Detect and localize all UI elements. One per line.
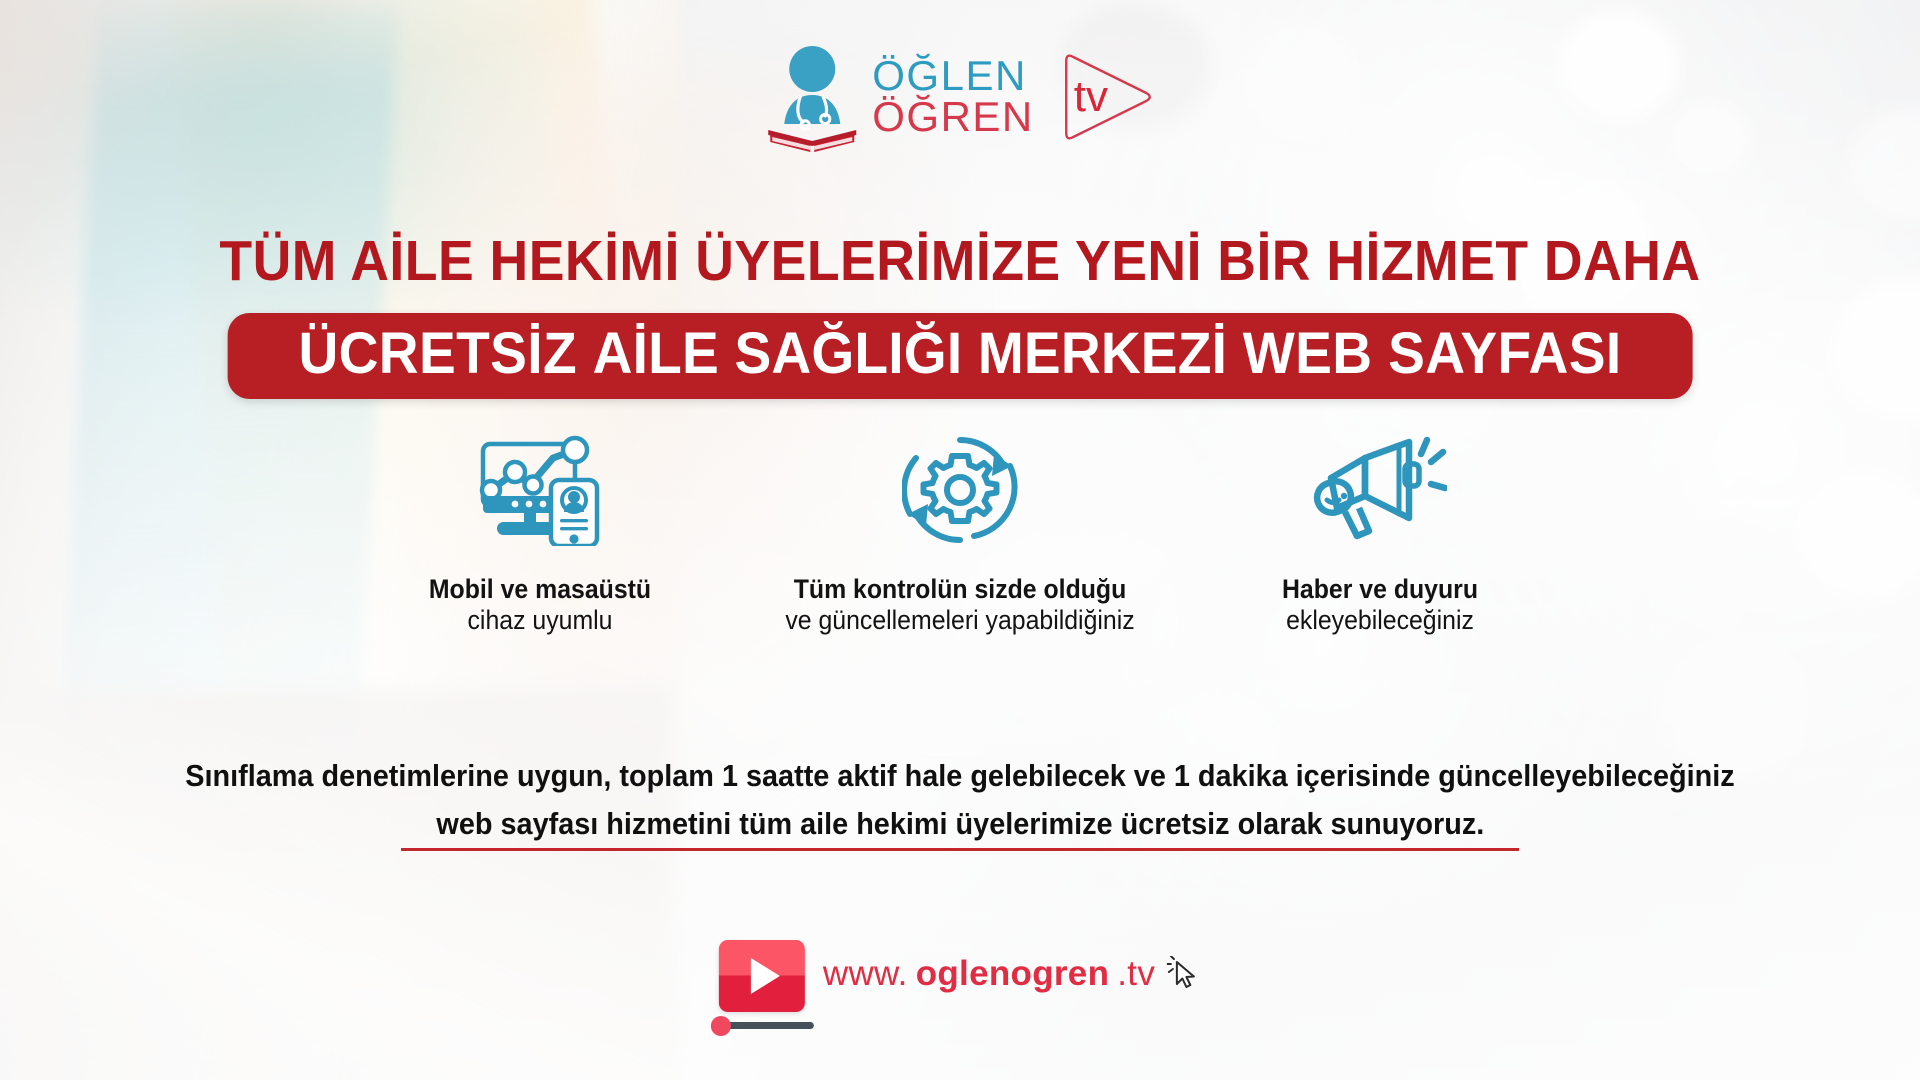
banner-strong: AİLE SAĞLIĞI MERKEZİ <box>593 321 1227 386</box>
feature-item: Mobil ve masaüstü cihaz uyumlu <box>330 430 750 637</box>
banner-text: ÜCRETSİZ AİLE SAĞLIĞI MERKEZİ WEB SAYFAS… <box>298 325 1621 383</box>
feature-item: Haber ve duyuru ekleyebileceğiniz <box>1170 430 1590 637</box>
feature-caption-line1: Haber ve duyuru <box>1187 574 1573 605</box>
logo-tv-play-icon: tv <box>1054 49 1154 145</box>
logo-word-ogren: ÖĞREN <box>872 97 1034 138</box>
feature-caption: Mobil ve masaüstü cihaz uyumlu <box>330 574 750 637</box>
paragraph-underline <box>401 848 1520 851</box>
paragraph-line-2: web sayfası hizmetini tüm aile hekimi üy… <box>436 806 1484 842</box>
feature-caption: Tüm kontrolün sizde olduğu ve güncelleme… <box>750 574 1170 637</box>
url-domain: oglenogren <box>916 954 1110 994</box>
gear-refresh-icon <box>750 430 1170 550</box>
headline: TÜM AİLE HEKİMİ ÜYELERİMİZE YENİ BİR HİZ… <box>58 228 1863 294</box>
logo-tv-label: tv <box>1074 72 1108 122</box>
progress-slider[interactable] <box>712 1022 814 1029</box>
description-paragraph: Sınıflama denetimlerine uygun, toplam 1 … <box>0 758 1920 842</box>
poster-canvas: ÖĞLEN ÖĞREN tv TÜM AİLE HEKİMİ ÜYELERİMİ… <box>0 0 1920 1080</box>
logo-word-oglen: ÖĞLEN <box>872 56 1034 97</box>
paragraph-line-2-wrapper: web sayfası hizmetini tüm aile hekimi üy… <box>397 806 1524 842</box>
url-tld: .tv <box>1117 954 1155 994</box>
feature-caption: Haber ve duyuru ekleyebileceğiniz <box>1170 574 1590 637</box>
feature-item: Tüm kontrolün sizde olduğu ve güncelleme… <box>750 430 1170 637</box>
feature-caption-line1: Mobil ve masaüstü <box>347 574 733 605</box>
url-protocol: www. <box>823 954 908 994</box>
feature-list: Mobil ve masaüstü cihaz uyumlu <box>0 430 1920 637</box>
banner-prefix: ÜCRETSİZ <box>298 321 592 386</box>
feature-caption-line2: cihaz uyumlu <box>347 605 733 636</box>
banner-suffix: WEB SAYFASI <box>1227 321 1621 386</box>
highlight-banner: ÜCRETSİZ AİLE SAĞLIĞI MERKEZİ WEB SAYFAS… <box>228 313 1693 399</box>
feature-caption-line2: ve güncellemeleri yapabildiğiniz <box>767 605 1153 636</box>
desktop-mobile-chart-icon <box>330 430 750 550</box>
paragraph-line-1: Sınıflama denetimlerine uygun, toplam 1 … <box>67 758 1853 794</box>
mouse-cursor-icon <box>1167 956 1201 992</box>
brand-logo[interactable]: ÖĞLEN ÖĞREN tv <box>766 42 1154 152</box>
megaphone-icon <box>1170 430 1590 550</box>
footer-website-link[interactable]: www.oglenogren.tv <box>719 940 1201 1029</box>
play-button-icon[interactable] <box>719 940 805 1029</box>
website-url[interactable]: www.oglenogren.tv <box>823 954 1201 994</box>
feature-caption-line2: ekleyebileceğiniz <box>1187 605 1573 636</box>
video-player-card[interactable] <box>719 940 805 1012</box>
feature-caption-line1: Tüm kontrolün sizde olduğu <box>767 574 1153 605</box>
progress-slider-knob[interactable] <box>711 1016 731 1036</box>
play-triangle-icon <box>751 958 780 994</box>
doctor-book-icon <box>766 42 858 152</box>
